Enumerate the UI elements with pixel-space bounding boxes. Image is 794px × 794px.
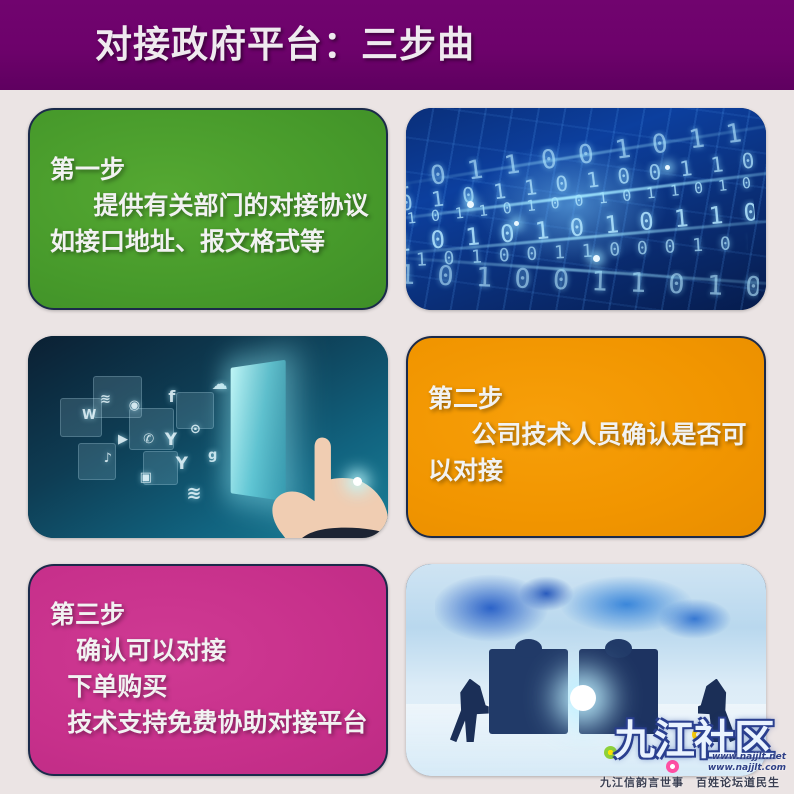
google-plus-icon: g	[208, 448, 217, 463]
card-step-two: 第二步 公司技术人员确认是否可 以对接	[406, 336, 766, 538]
glow-dot	[665, 165, 670, 170]
skype-icon: ◉	[129, 398, 140, 413]
step-three-text: 第三步 确认可以对接 下单购买 技术支持免费协助对接平台	[30, 597, 386, 741]
wordpress-icon: W	[82, 408, 96, 423]
card-social-touch-photo: ≋ W ◉ f ⊙ ▶ ✆ Y Y g ♪ ▣ ≋ ☁	[28, 336, 388, 538]
card-step-one: 第一步 提供有关部门的对接协议 如接口地址、报文格式等	[28, 108, 388, 310]
youtube-icon: ▶	[118, 432, 128, 447]
wifi-icon: ≋	[100, 392, 111, 407]
page-title: 对接政府平台：三步曲	[95, 22, 475, 68]
card-puzzle-photo	[406, 564, 766, 776]
puzzle-icon	[406, 564, 766, 776]
watermark-tagline: 九江信韵言世事 百姓论坛道民生	[600, 776, 788, 789]
twitter-icon: ✆	[143, 432, 154, 447]
cloud-icon: ☁	[212, 374, 228, 393]
step-one-text: 第一步 提供有关部门的对接协议 如接口地址、报文格式等	[30, 152, 386, 260]
card-step-three: 第三步 确认可以对接 下单购买 技术支持免费协助对接平台	[28, 564, 388, 776]
card-binary-data-photo: 1 0 1 1 0 0 1 0 1 1 0 1 0 0 1 0 1 1 0 1 …	[406, 108, 766, 310]
step-two-text: 第二步 公司技术人员确认是否可 以对接	[408, 381, 764, 489]
info-icon: ⊙	[190, 422, 201, 437]
wifi-icon: ≋	[186, 483, 201, 504]
hand-silhouette	[244, 425, 388, 538]
binary-data-icon: 1 0 1 1 0 0 1 0 1 1 0 1 0 0 1 0 1 1 0 1 …	[406, 108, 766, 310]
header-banner: 对接政府平台：三步曲	[0, 0, 794, 90]
camera-icon: ▣	[140, 470, 152, 485]
music-icon: ♪	[104, 451, 112, 466]
facebook-icon: f	[168, 387, 175, 406]
steps-grid: 第一步 提供有关部门的对接协议 如接口地址、报文格式等 1 0 1 1 0 0 …	[28, 108, 766, 776]
pointing-hand	[244, 425, 388, 538]
touchscreen-icon: ≋ W ◉ f ⊙ ▶ ✆ Y Y g ♪ ▣ ≋ ☁	[28, 336, 388, 538]
yahoo-icon: Y	[165, 430, 177, 450]
connection-flash	[570, 685, 596, 711]
app-tile-cloud: ≋ W ◉ f ⊙ ▶ ✆ Y Y g ♪ ▣ ≋ ☁	[57, 368, 237, 501]
puzzle-piece-left	[489, 649, 568, 734]
yahoo-icon: Y	[176, 454, 188, 474]
poster-canvas: 对接政府平台：三步曲 第一步 提供有关部门的对接协议 如接口地址、报文格式等 1…	[0, 0, 794, 794]
